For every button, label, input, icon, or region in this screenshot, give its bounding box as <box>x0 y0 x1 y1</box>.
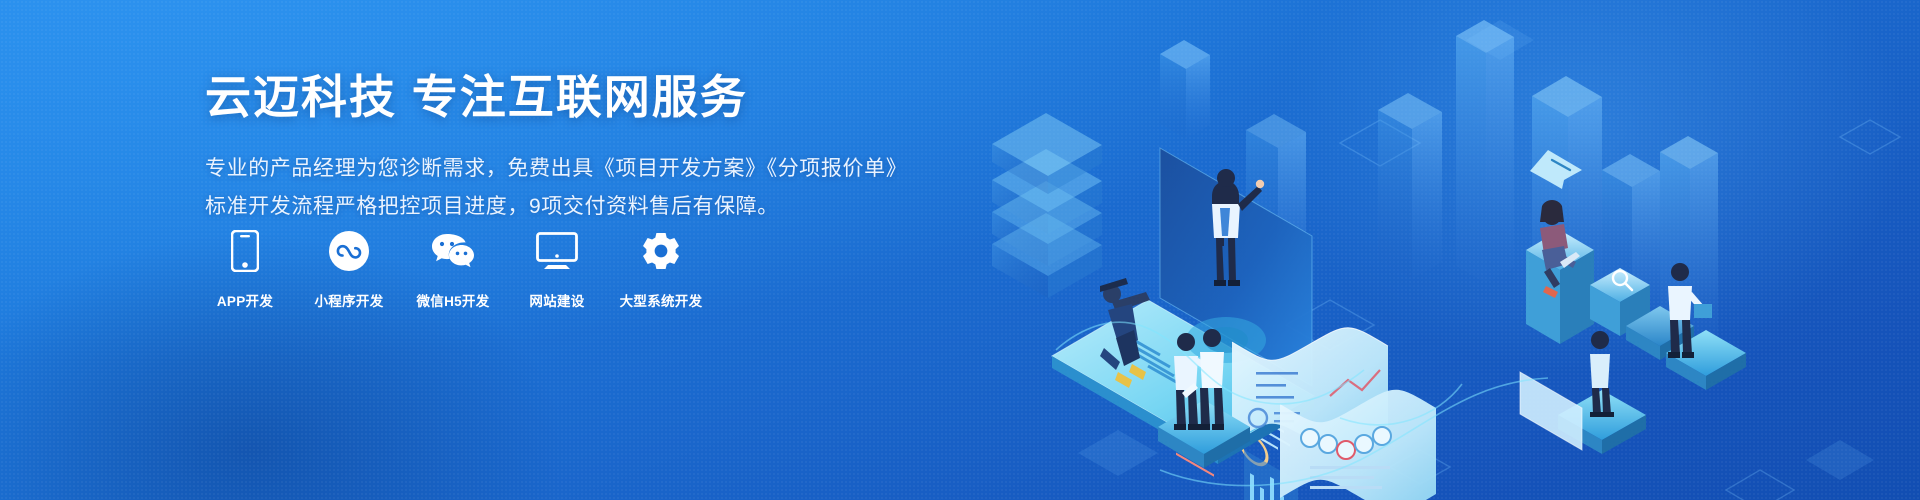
service-item-website[interactable]: 网站建设 <box>517 228 597 310</box>
monitor-icon <box>534 228 580 274</box>
service-label: 微信H5开发 <box>416 290 489 310</box>
isometric-tech-illustration <box>860 0 1920 500</box>
mini-program-icon <box>326 228 372 274</box>
service-label: 小程序开发 <box>315 290 384 310</box>
gear-icon <box>638 228 684 274</box>
banner-subtitle: 专业的产品经理为您诊断需求，免费出具《项目开发方案》《分项报价单》 标准开发流程… <box>205 150 907 225</box>
service-item-mini-program[interactable]: 小程序开发 <box>309 228 389 310</box>
service-item-app[interactable]: APP开发 <box>205 228 285 310</box>
service-list: APP开发 小程序开发 微信 <box>205 228 701 310</box>
wechat-icon <box>430 228 476 274</box>
subtitle-line-1: 专业的产品经理为您诊断需求，免费出具《项目开发方案》《分项报价单》 <box>205 150 907 187</box>
service-label: APP开发 <box>217 290 273 310</box>
service-label: 网站建设 <box>529 290 584 310</box>
banner-copy: 云迈科技 专注互联网服务 专业的产品经理为您诊断需求，免费出具《项目开发方案》《… <box>205 70 907 225</box>
service-item-wechat-h5[interactable]: 微信H5开发 <box>413 228 493 310</box>
mobile-phone-icon <box>222 228 268 274</box>
service-item-large-system[interactable]: 大型系统开发 <box>621 228 701 310</box>
service-label: 大型系统开发 <box>620 290 703 310</box>
subtitle-line-2: 标准开发流程严格把控项目进度，9项交付资料售后有保障。 <box>205 188 907 225</box>
page-title: 云迈科技 专注互联网服务 <box>205 70 907 124</box>
promo-banner: 云迈科技 专注互联网服务 专业的产品经理为您诊断需求，免费出具《项目开发方案》《… <box>0 0 1920 500</box>
